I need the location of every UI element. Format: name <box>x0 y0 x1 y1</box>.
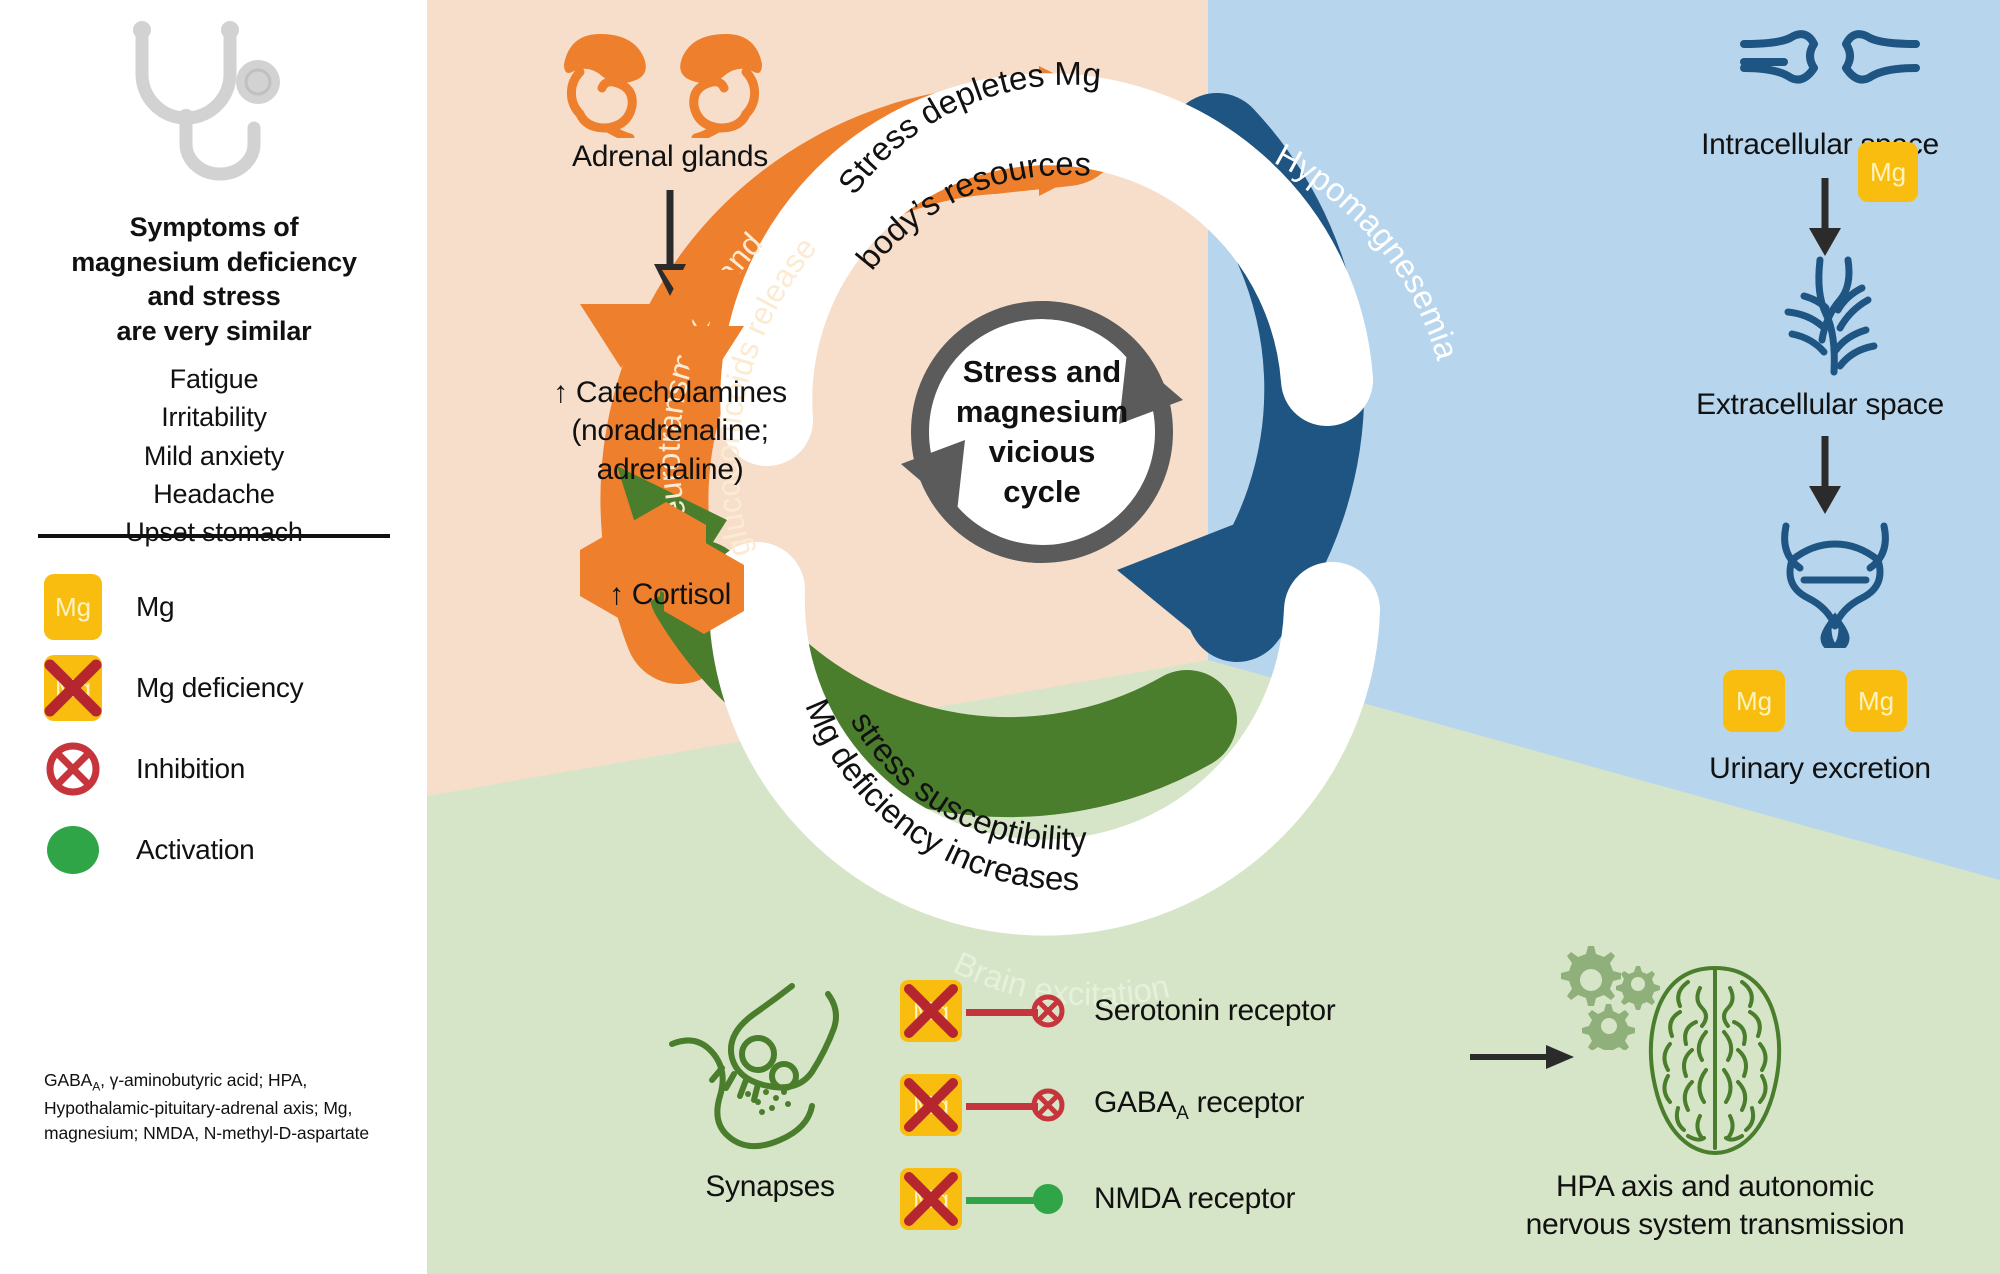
symptom-item: Mild anxiety <box>18 437 410 475</box>
urinary-excretion-label: Urinary excretion <box>1640 752 2000 786</box>
mg-chip-text: Mg <box>1870 157 1906 188</box>
red-x-icon <box>900 1074 962 1136</box>
inhibition-icon <box>44 740 102 798</box>
connector-line <box>966 1103 1038 1110</box>
legend-label: Mg <box>136 591 174 623</box>
title-line-2: magnesium deficiency <box>18 245 410 280</box>
legend-label: Mg deficiency <box>136 672 303 704</box>
symptom-item: Upset stomach <box>18 513 410 551</box>
svg-text:Stress and: Stress and <box>963 354 1122 389</box>
catecholamines-line-2: (noradrenaline; <box>440 412 900 450</box>
catecholamines-label: ↑ Catecholamines (noradrenaline; adrenal… <box>440 374 900 489</box>
adrenal-glands-icon <box>538 28 788 138</box>
red-x-icon <box>900 1168 962 1230</box>
title-line-1: Symptoms of <box>18 210 410 245</box>
mg-chip-text: Mg <box>1736 686 1772 717</box>
inhibition-icon <box>1030 993 1066 1029</box>
catecholamines-line-3: adrenaline) <box>440 451 900 489</box>
infographic-root: Neurotransmitters and glucocorticoids re… <box>0 0 2000 1274</box>
intracellular-space-label: Intracellular space <box>1640 128 2000 162</box>
legend-item-mg-deficiency: Mg Mg deficiency <box>44 655 404 721</box>
receptor-label-subscript: A <box>1176 1103 1188 1124</box>
symptoms-list: Fatigue Irritability Mild anxiety Headac… <box>18 360 410 552</box>
mg-deficiency-chip: Mg <box>44 655 102 721</box>
connector-line <box>966 1197 1038 1204</box>
svg-text:cycle: cycle <box>1003 474 1081 509</box>
connector-line <box>966 1009 1038 1016</box>
stethoscope-icon <box>110 18 310 188</box>
legend-label: Inhibition <box>136 753 245 785</box>
red-x-icon <box>44 655 102 721</box>
synapses-label: Synapses <box>640 1170 900 1204</box>
mg-chip: Mg <box>1845 670 1907 732</box>
receptor-label: GABAA receptor <box>1082 1086 1304 1125</box>
arrow-down-intracellular-icon <box>1800 178 1850 258</box>
legend-item-mg: Mg Mg <box>44 574 404 640</box>
receptor-row-gaba-a: Mg GABAA receptor <box>900 1070 1460 1140</box>
receptor-label-tail: receptor <box>1189 1086 1305 1119</box>
mg-deficiency-chip: Mg <box>900 1074 962 1136</box>
receptor-label: NMDA receptor <box>1082 1182 1295 1216</box>
symptom-item: Irritability <box>18 398 410 436</box>
activation-connector <box>962 1168 1082 1230</box>
inhibition-connector <box>962 1074 1082 1136</box>
cortisol-hexagons-icon <box>580 500 750 635</box>
activation-icon <box>1030 1181 1066 1217</box>
footnote-subscript: A <box>92 1080 100 1094</box>
symptom-item: Fatigue <box>18 360 410 398</box>
hpa-axis-label: HPA axis and autonomic nervous system tr… <box>1450 1168 1980 1245</box>
kidney-vasculature-icon <box>1770 256 1900 376</box>
cortisol-label: ↑ Cortisol <box>440 578 900 612</box>
svg-text:magnesium: magnesium <box>956 394 1128 429</box>
mg-chip-text: Mg <box>55 592 91 623</box>
mg-chip: Mg <box>1858 142 1918 202</box>
activation-icon <box>44 821 102 879</box>
left-panel: Symptoms of magnesium deficiency and str… <box>0 0 427 1274</box>
mg-deficiency-chip: Mg <box>900 1168 962 1230</box>
mg-chip-text: Mg <box>1858 686 1894 717</box>
legend: Mg Mg Mg Mg deficiency <box>44 574 404 898</box>
bladder-icon <box>1770 518 1900 648</box>
inhibition-connector <box>962 980 1082 1042</box>
arrow-down-extracellular-icon <box>1800 436 1850 516</box>
receptor-label: Serotonin receptor <box>1082 994 1335 1028</box>
symptom-item: Headache <box>18 475 410 513</box>
hpa-line-2: nervous system transmission <box>1450 1206 1980 1244</box>
legend-item-activation: Activation <box>44 817 404 883</box>
title-line-4: are very similar <box>18 314 410 349</box>
synapse-icon <box>662 980 882 1170</box>
mg-deficiency-chip: Mg <box>900 980 962 1042</box>
title-line-3: and stress <box>18 279 410 314</box>
footnote-part-1: GABA <box>44 1070 92 1090</box>
red-x-icon <box>900 980 962 1042</box>
footnote: GABAA, γ-aminobutyric acid; HPA, Hypotha… <box>44 1068 394 1147</box>
receptor-row-nmda: Mg NMDA receptor <box>900 1164 1460 1234</box>
neuron-synapse-icon <box>1740 30 1920 100</box>
center-ring <box>901 310 1183 554</box>
legend-item-inhibition: Inhibition <box>44 736 404 802</box>
hpa-line-1: HPA axis and autonomic <box>1450 1168 1980 1206</box>
inhibition-icon <box>1030 1087 1066 1123</box>
extracellular-space-label: Extracellular space <box>1630 388 2000 422</box>
mg-chip: Mg <box>1723 670 1785 732</box>
adrenal-glands-label: Adrenal glands <box>440 140 900 174</box>
receptor-list: Mg Serotonin receptor Mg <box>900 976 1460 1258</box>
page-title: Symptoms of magnesium deficiency and str… <box>18 210 410 348</box>
brain-icon <box>1640 960 1790 1155</box>
mg-chip: Mg <box>44 574 102 640</box>
receptor-row-serotonin: Mg Serotonin receptor <box>900 976 1460 1046</box>
divider <box>38 534 390 538</box>
svg-text:vicious: vicious <box>989 434 1096 469</box>
catecholamines-line-1: ↑ Catecholamines <box>440 374 900 412</box>
legend-label: Activation <box>136 834 254 866</box>
receptor-label-main: GABA <box>1094 1086 1176 1119</box>
